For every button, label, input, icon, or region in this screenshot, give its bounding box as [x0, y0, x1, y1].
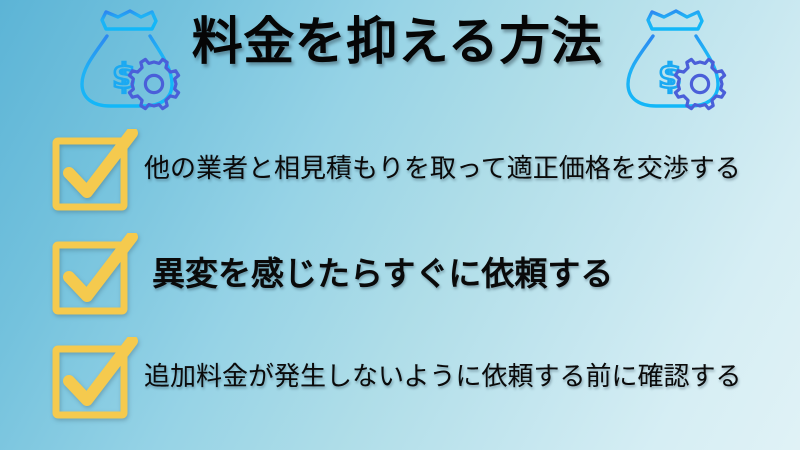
money-bag-gear-icon: $ [612, 8, 734, 112]
list-item: 他の業者と相見積もりを取って適正価格を交渉する [0, 118, 800, 222]
list-item: 追加料金が発生しないように依頼する前に確認する [0, 326, 800, 430]
list-item-label: 異変を感じたらすぐに依頼する [152, 255, 613, 293]
checkbox-checked-icon[interactable] [46, 337, 138, 419]
list-item-label: 追加料金が発生しないように依頼する前に確認する [144, 363, 741, 393]
list-item: 異変を感じたらすぐに依頼する [0, 222, 800, 326]
checklist: 他の業者と相見積もりを取って適正価格を交渉する 異変を感じたらすぐに依頼する 追… [0, 118, 800, 450]
slide-canvas: $ 料金を抑える方法 [0, 0, 800, 450]
money-bag-gear-icon: $ [66, 8, 188, 112]
header: $ 料金を抑える方法 [0, 0, 800, 118]
checkbox-checked-icon[interactable] [46, 233, 138, 315]
checkbox-checked-icon[interactable] [46, 129, 138, 211]
list-item-label: 他の業者と相見積もりを取って適正価格を交渉する [144, 155, 741, 185]
page-title: 料金を抑える方法 [192, 17, 602, 68]
